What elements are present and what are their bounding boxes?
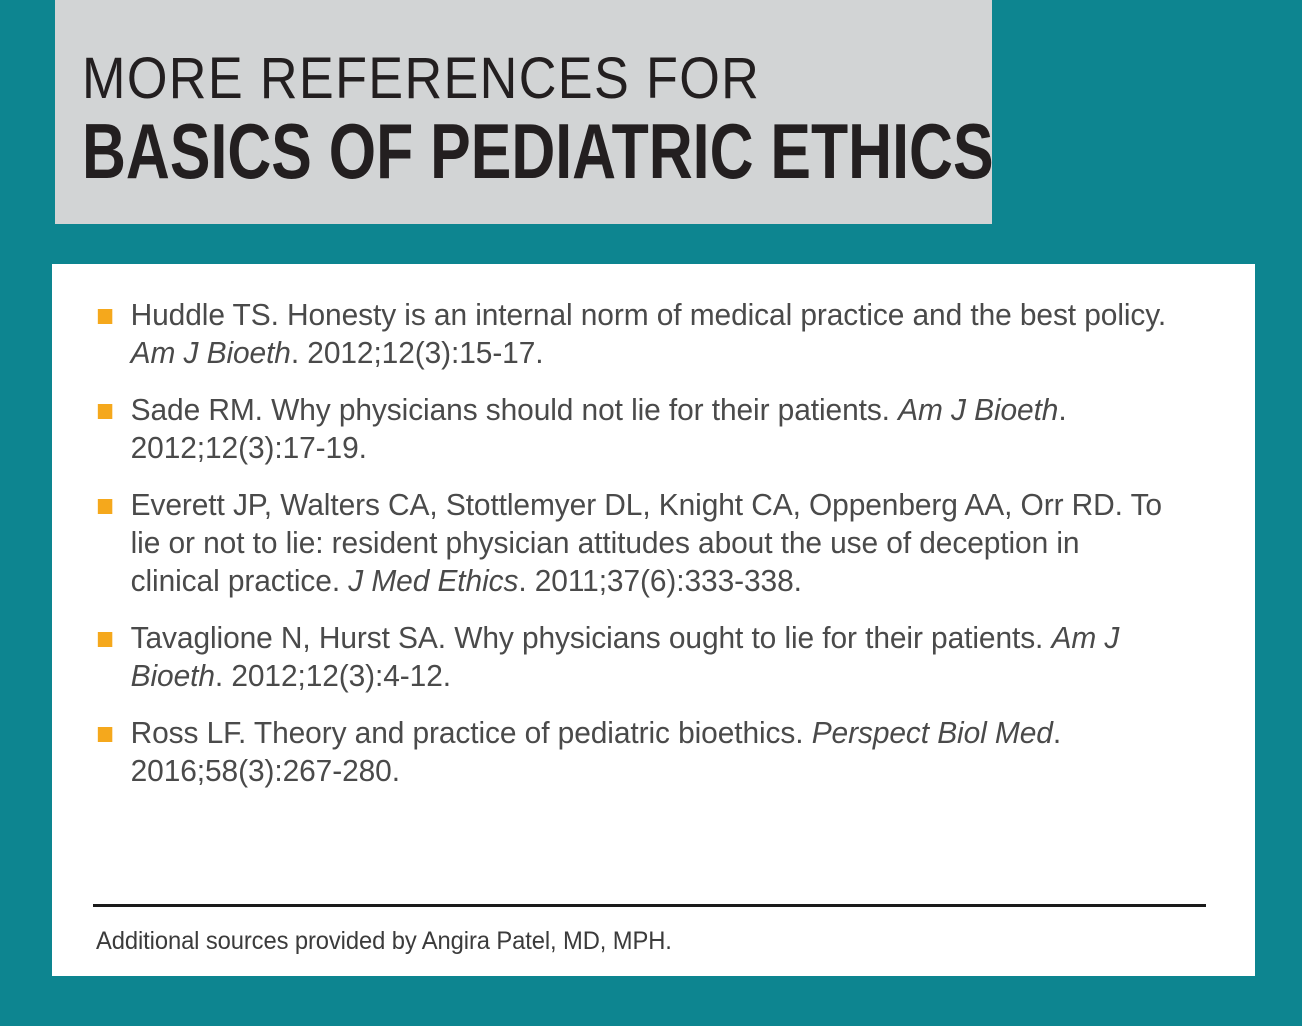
list-item: Sade RM. Why physicians should not lie f… [93, 391, 1170, 467]
list-item: Ross LF. Theory and practice of pediatri… [93, 714, 1170, 790]
journal-name: J Med Ethics [348, 563, 518, 598]
journal-name: Perspect Biol Med [812, 715, 1053, 750]
footer-note: Additional sources provided by Angira Pa… [96, 926, 672, 956]
list-item: Huddle TS. Honesty is an internal norm o… [93, 296, 1170, 372]
reference-text: Huddle TS. Honesty is an internal norm o… [131, 297, 1167, 332]
page-eyebrow: MORE REFERENCES FOR [82, 52, 901, 106]
journal-name: Am J Bioeth [131, 335, 291, 370]
bullet-square-icon [98, 404, 112, 419]
reference-text: Sade RM. Why physicians should not lie f… [131, 392, 898, 427]
list-item: Everett JP, Walters CA, Stottlemyer DL, … [93, 486, 1170, 600]
bullet-square-icon [98, 309, 112, 324]
bullet-square-icon [98, 632, 112, 647]
reference-text: Ross LF. Theory and practice of pediatri… [131, 715, 812, 750]
reference-text: Tavaglione N, Hurst SA. Why physicians o… [131, 620, 1052, 655]
reference-list: Huddle TS. Honesty is an internal norm o… [93, 296, 1209, 790]
references-card: Huddle TS. Honesty is an internal norm o… [52, 264, 1255, 976]
bullet-square-icon [98, 727, 112, 742]
header-plate: MORE REFERENCES FOR BASICS OF PEDIATRIC … [55, 0, 992, 224]
bullet-square-icon [98, 499, 112, 514]
journal-name: Am J Bioeth [898, 392, 1058, 427]
reference-citation: . 2011;37(6):333-338. [518, 563, 801, 598]
reference-citation: . 2012;12(3):4-12. [215, 658, 451, 693]
list-item: Tavaglione N, Hurst SA. Why physicians o… [93, 619, 1170, 695]
page-title: BASICS OF PEDIATRIC ETHICS [82, 112, 792, 190]
reference-citation: . 2012;12(3):15-17. [291, 335, 544, 370]
footer-divider [93, 904, 1206, 907]
